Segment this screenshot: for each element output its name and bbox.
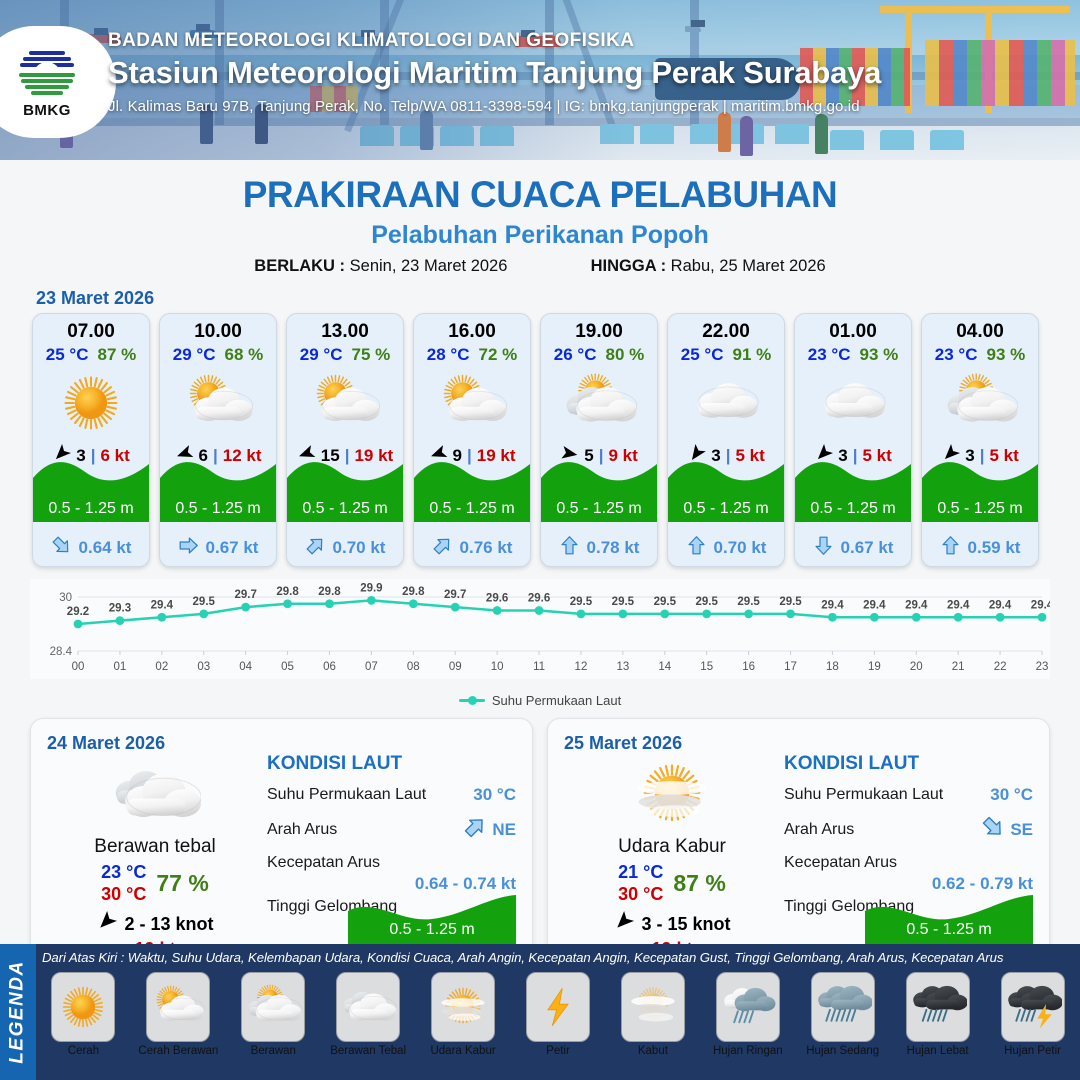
svg-text:29.5: 29.5 bbox=[193, 596, 216, 608]
bmkg-logo-mark bbox=[15, 45, 79, 101]
daily-humidity: 77 % bbox=[156, 870, 208, 897]
legend-item-label: Hujan Ringan bbox=[713, 1045, 783, 1057]
current-speed-label: Kecepatan Arus bbox=[784, 854, 897, 871]
hingga-value: Rabu, 25 Maret 2026 bbox=[671, 257, 826, 275]
forecast-card: 07.00 25 °C 87 % 3 | 6 kt bbox=[32, 313, 150, 567]
air-temperature: 26 °C bbox=[554, 345, 597, 365]
current-direction-icon bbox=[51, 535, 72, 561]
legend-item: Cerah bbox=[38, 972, 129, 1076]
svg-text:02: 02 bbox=[155, 661, 168, 673]
svg-text:14: 14 bbox=[658, 661, 671, 673]
page-title: PRAKIRAAN CUACA PELABUHAN bbox=[0, 174, 1080, 216]
page-header: BMKG BADAN METEOROLOGI KLIMATOLOGI DAN G… bbox=[0, 0, 1080, 160]
wave-height: 0.5 - 1.25 m bbox=[668, 500, 784, 518]
daily-temp-min: 23 °C bbox=[101, 862, 146, 883]
forecast-time: 19.00 bbox=[541, 321, 657, 343]
legend-item-label: Udara Kabur bbox=[430, 1045, 495, 1057]
svg-text:09: 09 bbox=[449, 661, 462, 673]
daily-wind-range: 2 - 13 knot bbox=[124, 914, 213, 935]
current-direction-value: NE bbox=[492, 820, 516, 840]
svg-text:04: 04 bbox=[239, 661, 252, 673]
daily-wind-direction-icon bbox=[96, 911, 117, 937]
wave-height: 0.5 - 1.25 m bbox=[33, 500, 149, 518]
legend-item: Berawan Tebal bbox=[323, 972, 414, 1076]
header-station-name: Stasiun Meteorologi Maritim Tanjung Pera… bbox=[108, 55, 1048, 91]
forecast-card: 10.00 29 °C 68 % 6 bbox=[159, 313, 277, 567]
daily-wave-height: 0.5 - 1.25 m bbox=[865, 921, 1033, 939]
legend-bar: LEGENDA Dari Atas Kiri : Waktu, Suhu Uda… bbox=[0, 944, 1080, 1080]
current-direction-icon bbox=[432, 535, 453, 561]
legend-item: Hujan Petir bbox=[987, 972, 1078, 1076]
header-organization: BADAN METEOROLOGI KLIMATOLOGI DAN GEOFIS… bbox=[108, 30, 1048, 52]
bmkg-logo-text: BMKG bbox=[23, 102, 71, 119]
svg-text:29.8: 29.8 bbox=[402, 586, 425, 598]
forecast-time: 04.00 bbox=[922, 321, 1038, 343]
svg-text:29.7: 29.7 bbox=[234, 589, 256, 601]
current-direction-label: Arah Arus bbox=[784, 821, 854, 839]
sea-condition-title: KONDISI LAUT bbox=[784, 753, 1033, 775]
svg-text:06: 06 bbox=[323, 661, 336, 673]
daily-humidity: 87 % bbox=[673, 870, 725, 897]
svg-text:29.7: 29.7 bbox=[444, 589, 466, 601]
sst-chart: 3028.40001020304050607080910111213141516… bbox=[30, 579, 1050, 691]
sst-label: Suhu Permukaan Laut bbox=[267, 786, 426, 804]
svg-text:29.5: 29.5 bbox=[612, 596, 635, 608]
legend-hujan-sedang-icon bbox=[811, 972, 875, 1042]
svg-text:00: 00 bbox=[72, 661, 85, 673]
humidity: 72 % bbox=[478, 345, 517, 365]
air-temperature: 29 °C bbox=[300, 345, 343, 365]
current-speed: 0.59 kt bbox=[968, 538, 1021, 558]
current-speed: 0.67 kt bbox=[206, 538, 259, 558]
chart-legend-marker bbox=[459, 699, 485, 702]
daily-wind-range: 3 - 15 knot bbox=[641, 914, 730, 935]
svg-text:16: 16 bbox=[742, 661, 755, 673]
current-direction-icon bbox=[305, 535, 326, 561]
bmkg-logo: BMKG bbox=[0, 26, 116, 138]
current-speed-value: 0.64 - 0.74 kt bbox=[267, 874, 516, 894]
svg-text:18: 18 bbox=[826, 661, 839, 673]
daily-forecast-panel: 25 Maret 2026 Udara Kabur 21 °C bbox=[547, 718, 1050, 960]
daily-wave-height: 0.5 - 1.25 m bbox=[348, 921, 516, 939]
legend-item-label: Hujan Lebat bbox=[907, 1045, 969, 1057]
svg-text:20: 20 bbox=[910, 661, 923, 673]
hourly-forecast-row: 07.00 25 °C 87 % 3 | 6 kt bbox=[0, 313, 1080, 567]
daily-weather-icon bbox=[47, 756, 263, 834]
legend-hujan-ringan-icon bbox=[716, 972, 780, 1042]
legend-item-label: Cerah bbox=[68, 1045, 99, 1057]
air-temperature: 23 °C bbox=[808, 345, 851, 365]
legend-item-label: Kabut bbox=[638, 1045, 668, 1057]
current-speed: 0.64 kt bbox=[79, 538, 132, 558]
daily-temp-min: 21 °C bbox=[618, 862, 663, 883]
svg-text:29.5: 29.5 bbox=[696, 596, 719, 608]
legend-item-label: Hujan Sedang bbox=[806, 1045, 879, 1057]
air-temperature: 25 °C bbox=[46, 345, 89, 365]
daily-condition: Berawan tebal bbox=[47, 836, 263, 858]
legend-item-label: Petir bbox=[546, 1045, 570, 1057]
svg-text:13: 13 bbox=[616, 661, 629, 673]
sst-value: 30 °C bbox=[473, 785, 516, 805]
legend-berawan-sun-icon bbox=[241, 972, 305, 1042]
humidity: 93 % bbox=[986, 345, 1025, 365]
current-speed-label: Kecepatan Arus bbox=[267, 854, 380, 871]
legend-cerah-icon bbox=[51, 972, 115, 1042]
svg-text:29.8: 29.8 bbox=[318, 586, 341, 598]
current-direction-value: SE bbox=[1010, 820, 1033, 840]
current-direction-icon bbox=[178, 535, 199, 561]
wave-height: 0.5 - 1.25 m bbox=[922, 500, 1038, 518]
legend-kabut-icon bbox=[621, 972, 685, 1042]
legend-item: Hujan Lebat bbox=[892, 972, 983, 1076]
legend-hujan-lebat-icon bbox=[906, 972, 970, 1042]
forecast-time: 13.00 bbox=[287, 321, 403, 343]
svg-text:29.3: 29.3 bbox=[109, 603, 131, 615]
forecast-card: 22.00 25 °C 91 % 3 bbox=[667, 313, 785, 567]
humidity: 75 % bbox=[351, 345, 390, 365]
legend-icon-row: Cerah Cerah Berawan bbox=[38, 972, 1078, 1076]
current-direction-icon bbox=[940, 535, 961, 561]
current-speed: 0.70 kt bbox=[714, 538, 767, 558]
legend-side-label: LEGENDA bbox=[0, 944, 36, 1080]
air-temperature: 23 °C bbox=[935, 345, 978, 365]
forecast-time: 10.00 bbox=[160, 321, 276, 343]
berlaku-label: BERLAKU : bbox=[254, 257, 345, 275]
svg-text:29.4: 29.4 bbox=[947, 599, 970, 611]
chart-legend: Suhu Permukaan Laut bbox=[0, 693, 1080, 708]
forecast-card: 19.00 26 °C 80 % bbox=[540, 313, 658, 567]
current-speed: 0.67 kt bbox=[841, 538, 894, 558]
legend-item: Petir bbox=[513, 972, 604, 1076]
forecast-card: 16.00 28 °C 72 % 9 bbox=[413, 313, 531, 567]
svg-text:23: 23 bbox=[1036, 661, 1049, 673]
legend-cerah-berawan-icon bbox=[146, 972, 210, 1042]
chart-legend-label: Suhu Permukaan Laut bbox=[492, 693, 621, 708]
wave-height: 0.5 - 1.25 m bbox=[541, 500, 657, 518]
svg-text:29.6: 29.6 bbox=[486, 593, 508, 605]
svg-text:12: 12 bbox=[575, 661, 588, 673]
svg-text:15: 15 bbox=[700, 661, 713, 673]
forecast-time: 22.00 bbox=[668, 321, 784, 343]
humidity: 93 % bbox=[859, 345, 898, 365]
weather-condition-icon bbox=[795, 367, 911, 439]
legend-item-label: Cerah Berawan bbox=[138, 1045, 218, 1057]
svg-text:29.5: 29.5 bbox=[779, 596, 802, 608]
legend-hujan-petir-icon bbox=[1001, 972, 1065, 1042]
svg-text:17: 17 bbox=[784, 661, 797, 673]
current-speed: 0.76 kt bbox=[460, 538, 513, 558]
humidity: 87 % bbox=[97, 345, 136, 365]
wave-height: 0.5 - 1.25 m bbox=[795, 500, 911, 518]
legend-item: Udara Kabur bbox=[418, 972, 509, 1076]
svg-text:29.9: 29.9 bbox=[360, 582, 382, 594]
svg-text:22: 22 bbox=[994, 661, 1007, 673]
weather-condition-icon bbox=[668, 367, 784, 439]
sst-label: Suhu Permukaan Laut bbox=[784, 786, 943, 804]
svg-text:29.6: 29.6 bbox=[528, 593, 550, 605]
svg-text:05: 05 bbox=[281, 661, 294, 673]
berlaku-value: Senin, 23 Maret 2026 bbox=[350, 257, 508, 275]
legend-item-label: Berawan Tebal bbox=[330, 1045, 406, 1057]
humidity: 68 % bbox=[224, 345, 263, 365]
current-direction-icon bbox=[559, 535, 580, 561]
svg-text:21: 21 bbox=[952, 661, 965, 673]
current-direction-label: Arah Arus bbox=[267, 821, 337, 839]
header-contact-info: Jl. Kalimas Baru 97B, Tanjung Perak, No.… bbox=[108, 98, 1048, 115]
page-subtitle: Pelabuhan Perikanan Popoh bbox=[0, 221, 1080, 250]
svg-text:29.4: 29.4 bbox=[1031, 599, 1050, 611]
current-direction-icon bbox=[686, 535, 707, 561]
current-direction-icon bbox=[463, 815, 487, 844]
weather-condition-icon bbox=[33, 367, 149, 439]
legend-petir-icon bbox=[526, 972, 590, 1042]
legend-item: Berawan bbox=[228, 972, 319, 1076]
daily-date: 25 Maret 2026 bbox=[564, 733, 780, 754]
svg-text:28.4: 28.4 bbox=[50, 646, 73, 658]
weather-condition-icon bbox=[922, 367, 1038, 439]
legend-note: Dari Atas Kiri : Waktu, Suhu Udara, Kele… bbox=[42, 950, 1074, 965]
svg-text:29.4: 29.4 bbox=[905, 599, 928, 611]
svg-text:19: 19 bbox=[868, 661, 881, 673]
forecast-card: 04.00 23 °C 93 % bbox=[921, 313, 1039, 567]
air-temperature: 29 °C bbox=[173, 345, 216, 365]
legend-udara-kabur-icon bbox=[431, 972, 495, 1042]
air-temperature: 25 °C bbox=[681, 345, 724, 365]
current-speed: 0.70 kt bbox=[333, 538, 386, 558]
page-title-block: PRAKIRAAN CUACA PELABUHAN Pelabuhan Peri… bbox=[0, 174, 1080, 276]
daily-date: 24 Maret 2026 bbox=[47, 733, 263, 754]
sea-condition-title: KONDISI LAUT bbox=[267, 753, 516, 775]
forecast-date-label: 23 Maret 2026 bbox=[36, 288, 1080, 309]
current-direction-icon bbox=[981, 815, 1005, 844]
current-speed: 0.78 kt bbox=[587, 538, 640, 558]
svg-text:10: 10 bbox=[491, 661, 504, 673]
air-temperature: 28 °C bbox=[427, 345, 470, 365]
svg-text:30: 30 bbox=[59, 592, 72, 604]
forecast-time: 01.00 bbox=[795, 321, 911, 343]
forecast-time: 07.00 bbox=[33, 321, 149, 343]
daily-condition: Udara Kabur bbox=[564, 836, 780, 858]
svg-text:29.4: 29.4 bbox=[821, 599, 844, 611]
legend-item: Cerah Berawan bbox=[133, 972, 224, 1076]
humidity: 80 % bbox=[605, 345, 644, 365]
legend-item: Hujan Sedang bbox=[797, 972, 888, 1076]
daily-forecast-panel: 24 Maret 2026 Berawan tebal bbox=[30, 718, 533, 960]
legend-item-label: Hujan Petir bbox=[1004, 1045, 1061, 1057]
wave-height: 0.5 - 1.25 m bbox=[414, 500, 530, 518]
svg-text:08: 08 bbox=[407, 661, 420, 673]
current-direction-icon bbox=[813, 535, 834, 561]
svg-text:01: 01 bbox=[114, 661, 127, 673]
svg-text:29.5: 29.5 bbox=[737, 596, 760, 608]
daily-forecast-panels: 24 Maret 2026 Berawan tebal bbox=[0, 708, 1080, 960]
daily-wind-direction-icon bbox=[613, 911, 634, 937]
daily-temp-max: 30 °C bbox=[101, 884, 146, 905]
forecast-card: 01.00 23 °C 93 % 3 bbox=[794, 313, 912, 567]
svg-text:29.5: 29.5 bbox=[654, 596, 677, 608]
daily-temp-max: 30 °C bbox=[618, 884, 663, 905]
legend-item: Kabut bbox=[607, 972, 698, 1076]
svg-text:07: 07 bbox=[365, 661, 378, 673]
svg-text:29.8: 29.8 bbox=[276, 586, 299, 598]
svg-text:29.4: 29.4 bbox=[151, 599, 174, 611]
current-speed-value: 0.62 - 0.79 kt bbox=[784, 874, 1033, 894]
legend-item: Hujan Ringan bbox=[702, 972, 793, 1076]
forecast-time: 16.00 bbox=[414, 321, 530, 343]
wave-height: 0.5 - 1.25 m bbox=[287, 500, 403, 518]
weather-condition-icon bbox=[287, 367, 403, 439]
daily-weather-icon bbox=[564, 756, 780, 834]
legend-berawan-tebal-icon bbox=[336, 972, 400, 1042]
svg-text:29.5: 29.5 bbox=[570, 596, 593, 608]
humidity: 91 % bbox=[732, 345, 771, 365]
validity-period: BERLAKU : Senin, 23 Maret 2026 HINGGA : … bbox=[0, 257, 1080, 276]
svg-text:29.4: 29.4 bbox=[989, 599, 1012, 611]
svg-text:03: 03 bbox=[197, 661, 210, 673]
wave-height: 0.5 - 1.25 m bbox=[160, 500, 276, 518]
hingga-label: HINGGA : bbox=[591, 257, 666, 275]
weather-condition-icon bbox=[160, 367, 276, 439]
forecast-card: 13.00 29 °C 75 % 15 bbox=[286, 313, 404, 567]
weather-condition-icon bbox=[541, 367, 657, 439]
svg-text:11: 11 bbox=[533, 661, 545, 673]
svg-text:29.4: 29.4 bbox=[863, 599, 886, 611]
svg-text:29.2: 29.2 bbox=[67, 606, 89, 618]
weather-condition-icon bbox=[414, 367, 530, 439]
legend-item-label: Berawan bbox=[251, 1045, 296, 1057]
sst-value: 30 °C bbox=[990, 785, 1033, 805]
